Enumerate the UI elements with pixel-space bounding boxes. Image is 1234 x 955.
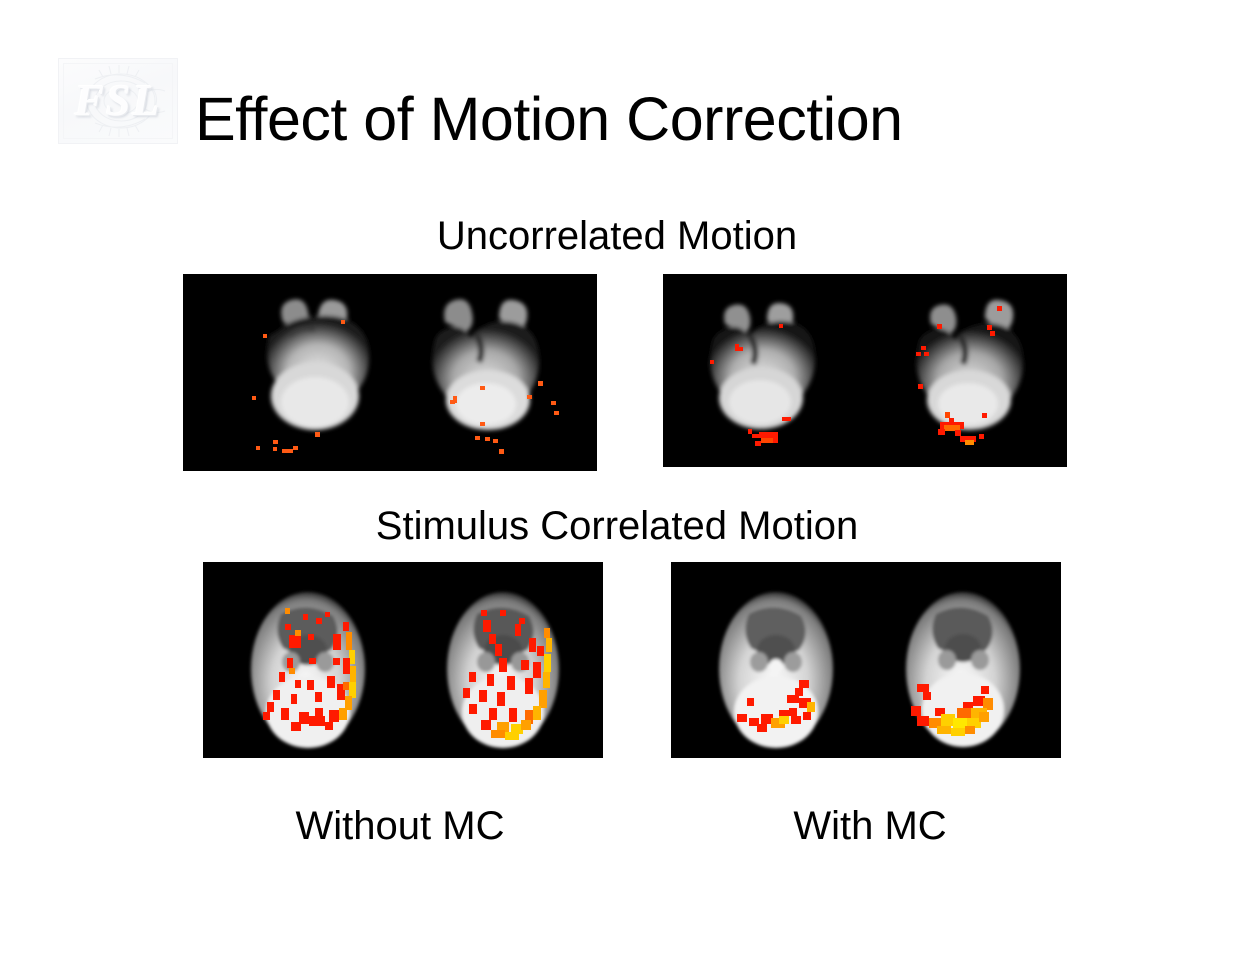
column-label-without-mc: Without MC bbox=[180, 802, 620, 850]
page-title: Effect of Motion Correction bbox=[195, 83, 1075, 155]
column-label-with-mc: With MC bbox=[660, 802, 1080, 850]
brain-slices-stimulus-without-mc bbox=[203, 562, 603, 758]
section-heading-uncorrelated: Uncorrelated Motion bbox=[0, 213, 1234, 259]
section-heading-stimulus-correlated: Stimulus Correlated Motion bbox=[0, 503, 1234, 549]
brain-panel-uncorrelated-without-mc bbox=[183, 274, 597, 471]
brain-panel-stimulus-with-mc bbox=[671, 562, 1061, 758]
brain-slices-uncorrelated-with-mc bbox=[663, 274, 1067, 467]
brain-slices-uncorrelated-without-mc bbox=[183, 274, 597, 471]
fsl-logo: FSL bbox=[58, 58, 178, 144]
brain-panel-uncorrelated-with-mc bbox=[663, 274, 1067, 467]
logo-text: FSL bbox=[59, 75, 177, 127]
brain-panel-stimulus-without-mc bbox=[203, 562, 603, 758]
brain-slices-stimulus-with-mc bbox=[671, 562, 1061, 758]
